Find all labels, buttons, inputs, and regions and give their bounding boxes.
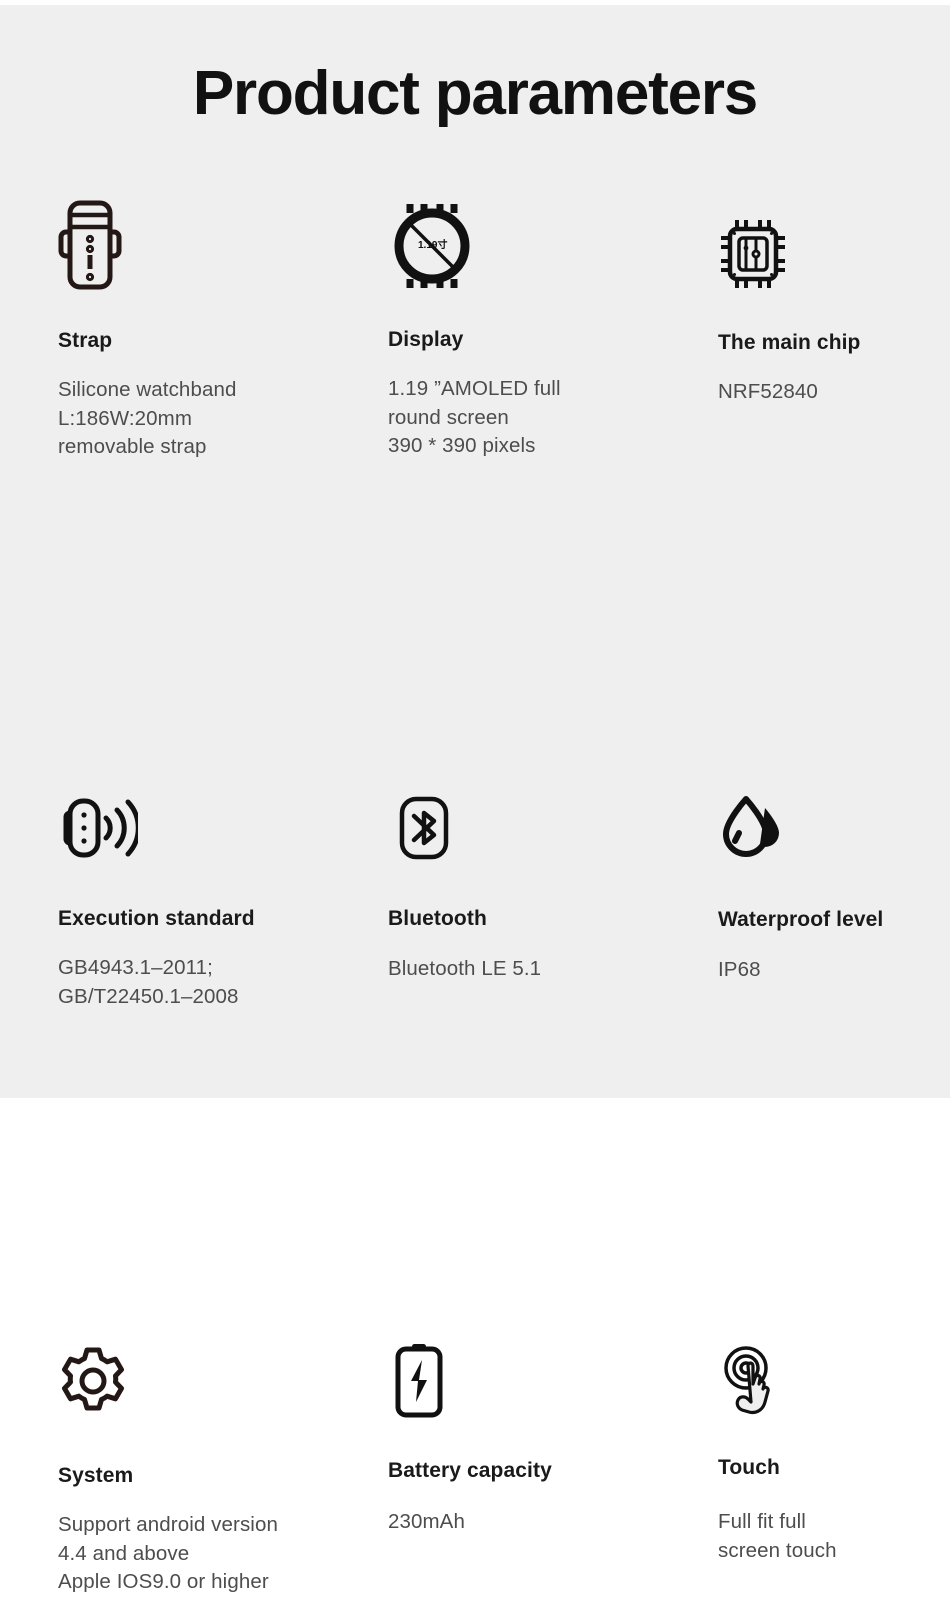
param-cell-touch: Touch Full fit full screen touch	[718, 1322, 950, 1565]
watch-display-icon: 1.19寸	[388, 195, 688, 291]
parameters-row: Execution standard GB4943.1–2011; GB/T22…	[0, 471, 950, 747]
param-desc: Support android version 4.4 and above Ap…	[58, 1511, 358, 1597]
touch-hand-icon	[718, 1322, 950, 1418]
param-desc: 230mAh	[388, 1508, 688, 1537]
gear-icon	[58, 1322, 358, 1418]
parameters-grid: Strap Silicone watchband L:186W:20mm rem…	[0, 195, 950, 1023]
param-cell-display: 1.19寸 Display 1.19 ”AMOLED full round sc…	[388, 195, 688, 461]
param-cell-main-chip: The main chip NRF52840	[718, 195, 950, 407]
param-desc: Silicone watchband L:186W:20mm removable…	[58, 376, 358, 462]
param-desc: Full fit full screen touch	[718, 1508, 950, 1565]
param-cell-system: System Support android version 4.4 and a…	[58, 1322, 358, 1597]
parameters-row: Strap Silicone watchband L:186W:20mm rem…	[0, 195, 950, 471]
display-size-label: 1.19寸	[418, 238, 447, 251]
param-cell-battery: Battery capacity 230mAh	[388, 1322, 688, 1537]
product-parameters-page: Product parameters	[0, 0, 950, 1098]
param-title: Touch	[718, 1456, 950, 1480]
param-title: Display	[388, 328, 688, 352]
param-title: System	[58, 1464, 358, 1488]
chip-icon	[718, 195, 950, 291]
param-title: Strap	[58, 329, 358, 353]
top-white-strip	[0, 0, 950, 5]
battery-icon	[388, 1322, 688, 1418]
param-desc: NRF52840	[718, 378, 950, 407]
watch-strap-icon	[58, 195, 358, 291]
parameters-row: System Support android version 4.4 and a…	[0, 747, 950, 1023]
param-title: Battery capacity	[388, 1459, 688, 1483]
param-title: The main chip	[718, 331, 950, 355]
param-cell-strap: Strap Silicone watchband L:186W:20mm rem…	[58, 195, 358, 462]
param-desc: 1.19 ”AMOLED full round screen 390 * 390…	[388, 375, 688, 461]
page-title: Product parameters	[0, 58, 950, 129]
